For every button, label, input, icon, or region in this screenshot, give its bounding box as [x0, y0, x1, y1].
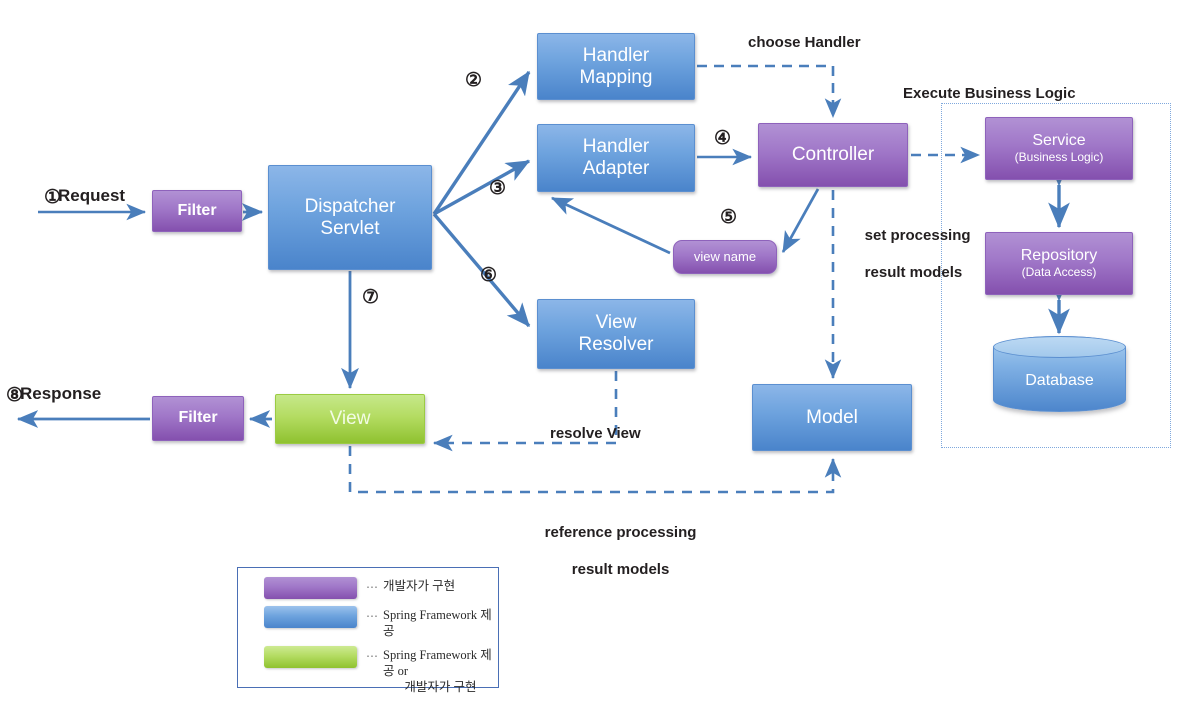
label-set-processing-line1: set processing — [865, 227, 971, 244]
node-dispatcher-servlet-label-line1: Dispatcher — [305, 196, 396, 218]
spring-mvc-diagram: Filter Dispatcher Servlet Handler Mappin… — [0, 0, 1200, 716]
label-execute-business-logic: Execute Business Logic — [903, 85, 1076, 104]
node-service-label-line2: (Business Logic) — [1015, 151, 1104, 165]
node-view[interactable]: View — [275, 394, 425, 444]
node-handler-adapter-label-line2: Adapter — [583, 158, 650, 180]
label-set-processing-line2: result models — [865, 264, 963, 281]
node-view-label: View — [330, 408, 371, 430]
node-repository-label-line2: (Data Access) — [1022, 266, 1097, 280]
node-repository[interactable]: Repository (Data Access) — [985, 232, 1133, 295]
wire-choose-handler — [697, 66, 833, 117]
legend-row: ⋯ 개발자가 구현 — [264, 577, 498, 599]
legend-label-line1: Spring Framework 제공 or — [383, 648, 492, 678]
node-view-resolver[interactable]: View Resolver — [537, 299, 695, 369]
label-choose-handler: choose Handler — [748, 34, 861, 53]
node-database[interactable]: Database — [993, 336, 1126, 412]
node-handler-mapping-label-line1: Handler — [583, 45, 650, 67]
node-database-label: Database — [1025, 358, 1094, 390]
wire-dispatcher-to-handler-adapter — [434, 161, 529, 214]
database-cylinder-top — [993, 336, 1126, 358]
label-request: Request — [58, 185, 125, 206]
node-view-resolver-label-line2: Resolver — [579, 334, 654, 356]
legend-label-spring: Spring Framework 제공 — [383, 606, 498, 639]
legend-dash: ⋯ — [366, 649, 378, 663]
label-response: Response — [20, 383, 101, 404]
node-view-resolver-label-line1: View — [596, 312, 637, 334]
node-dispatcher-servlet[interactable]: Dispatcher Servlet — [268, 165, 432, 270]
legend-swatch-spring-or-developer — [264, 646, 357, 668]
legend-label-line2: 개발자가 구현 — [383, 680, 498, 696]
label-set-processing-result-models: set processing result models — [848, 208, 971, 302]
node-dispatcher-servlet-label-line2: Servlet — [320, 218, 379, 240]
node-view-name[interactable]: view name — [673, 240, 777, 274]
step-number-5: ⑤ — [718, 207, 739, 228]
node-handler-mapping-label-line2: Mapping — [580, 67, 653, 89]
step-number-6: ⑥ — [478, 265, 499, 286]
node-controller[interactable]: Controller — [758, 123, 908, 187]
legend-row: ⋯ Spring Framework 제공 or 개발자가 구현 — [264, 646, 498, 695]
node-service[interactable]: Service (Business Logic) — [985, 117, 1133, 180]
node-controller-label: Controller — [792, 144, 874, 166]
node-handler-adapter[interactable]: Handler Adapter — [537, 124, 695, 192]
node-model[interactable]: Model — [752, 384, 912, 451]
node-view-name-label: view name — [694, 250, 756, 265]
node-repository-label-line1: Repository — [1021, 247, 1097, 265]
legend-dash: ⋯ — [366, 580, 378, 594]
label-reference-line2: result models — [572, 561, 670, 578]
legend-dash: ⋯ — [366, 609, 378, 623]
label-reference-processing-result-models: reference processing result models — [528, 505, 696, 599]
legend-swatch-spring — [264, 606, 357, 628]
node-handler-adapter-label-line1: Handler — [583, 136, 650, 158]
node-model-label: Model — [806, 407, 858, 429]
step-number-2: ② — [463, 70, 484, 91]
label-reference-line1: reference processing — [545, 524, 697, 541]
wire-controller-to-view-name — [783, 189, 818, 252]
step-number-4: ④ — [712, 128, 733, 149]
wire-dispatcher-to-handler-mapping — [434, 72, 529, 214]
node-filter-request[interactable]: Filter — [152, 190, 242, 232]
wire-reference-processing-result-models — [350, 446, 833, 492]
label-resolve-view: resolve View — [550, 425, 641, 444]
legend-label-spring-or-developer: Spring Framework 제공 or 개발자가 구현 — [383, 646, 498, 695]
legend-box: ⋯ 개발자가 구현 ⋯ Spring Framework 제공 ⋯ Spring… — [237, 567, 499, 688]
legend-label-developer: 개발자가 구현 — [383, 577, 455, 595]
step-number-3: ③ — [487, 178, 508, 199]
legend-row: ⋯ Spring Framework 제공 — [264, 606, 498, 639]
legend-swatch-developer — [264, 577, 357, 599]
node-filter-request-label: Filter — [177, 202, 216, 220]
wire-view-name-to-handler-adapter — [552, 198, 670, 253]
node-service-label-line1: Service — [1032, 132, 1085, 150]
node-filter-response-label: Filter — [178, 409, 217, 427]
step-number-7: ⑦ — [360, 287, 381, 308]
node-filter-response[interactable]: Filter — [152, 396, 244, 441]
node-handler-mapping[interactable]: Handler Mapping — [537, 33, 695, 100]
